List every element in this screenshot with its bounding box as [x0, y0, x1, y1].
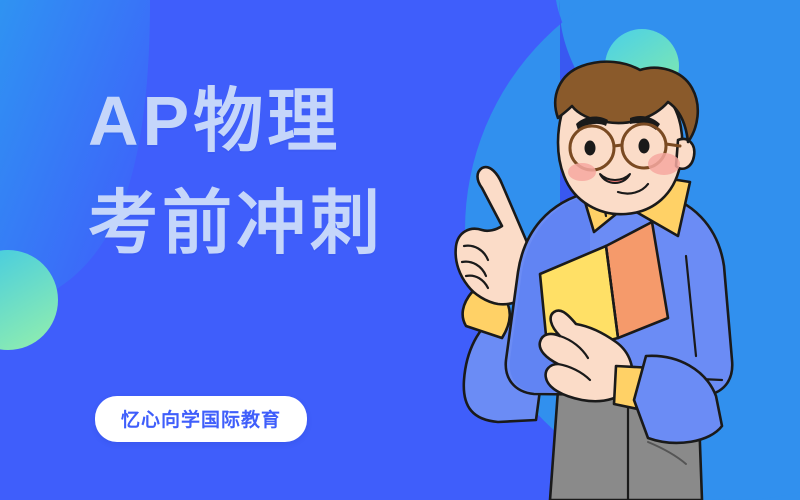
headline-line-1: AP物理 [88, 86, 384, 156]
glasses-bridge [614, 145, 622, 146]
student-illustration [440, 60, 800, 500]
brand-badge[interactable]: 忆心向学国际教育 [95, 396, 307, 442]
headline: AP物理 考前冲刺 [88, 86, 384, 258]
eye-left [585, 141, 596, 156]
headline-line-2: 考前冲刺 [88, 188, 384, 258]
eye-right [639, 139, 650, 154]
cheek-left [568, 163, 596, 181]
promo-banner: AP物理 考前冲刺 忆心向学国际教育 [0, 0, 800, 500]
cheek-right [648, 153, 680, 175]
glasses-temple [666, 144, 680, 146]
